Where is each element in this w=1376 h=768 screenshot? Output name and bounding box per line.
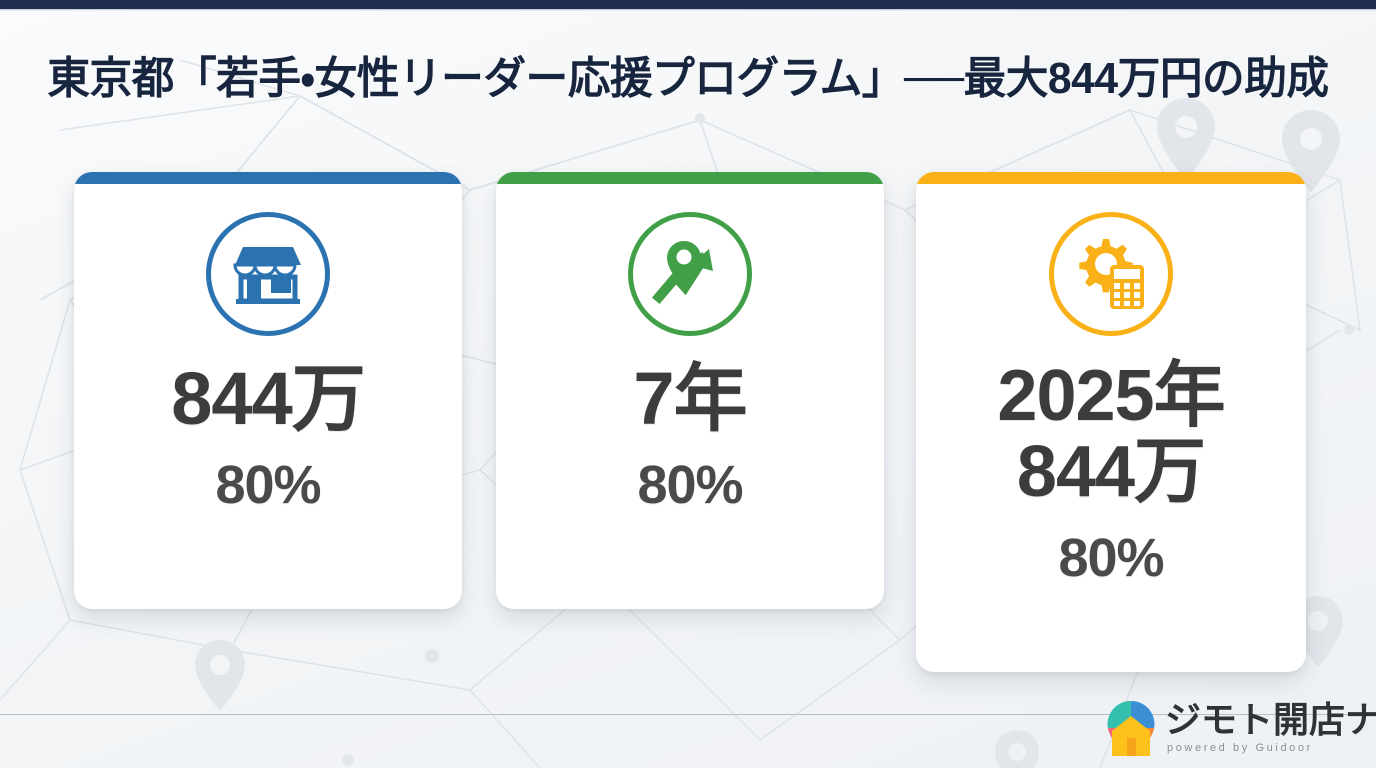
stat-card-1[interactable]: 844万 80% [74, 172, 462, 609]
page-title: 東京都「若手・女性リーダー応援プログラム」──最大844万円の助成 [21, 55, 1356, 103]
card-accent-bar [74, 172, 462, 184]
card-subvalue: 80% [1058, 531, 1163, 585]
gear-calculator-icon [1049, 212, 1173, 336]
card-body: 7年 80% [496, 184, 884, 609]
map-pin-house-logo-icon [1105, 700, 1157, 756]
card-subvalue: 80% [215, 458, 320, 512]
card-body: 844万 80% [74, 184, 462, 609]
stat-card-3[interactable]: 2025年 844万 80% [916, 172, 1306, 672]
location-growth-arrow-icon [628, 212, 752, 336]
infographic-slide: 東京都「若手・女性リーダー応援プログラム」──最大844万円の助成 844万 8… [0, 0, 1376, 768]
card-value: 844万 [171, 362, 364, 436]
top-band-shadow [0, 9, 1376, 11]
card-accent-bar [916, 172, 1306, 184]
storefront-icon [206, 212, 330, 336]
logo-tagline: powered by Guidoor [1167, 743, 1313, 754]
brand-logo[interactable]: ジモト開店ナビ powered by Guidoor [1105, 700, 1376, 756]
logo-name: ジモト開店ナビ [1165, 702, 1376, 738]
card-accent-bar [496, 172, 884, 184]
stat-card-2[interactable]: 7年 80% [496, 172, 884, 609]
card-body: 2025年 844万 80% [916, 184, 1306, 672]
logo-text: ジモト開店ナビ powered by Guidoor [1165, 702, 1376, 754]
top-accent-band [0, 0, 1376, 9]
card-value: 7年 [633, 362, 746, 436]
card-subvalue: 80% [637, 458, 742, 512]
card-value: 2025年 844万 [997, 358, 1224, 511]
